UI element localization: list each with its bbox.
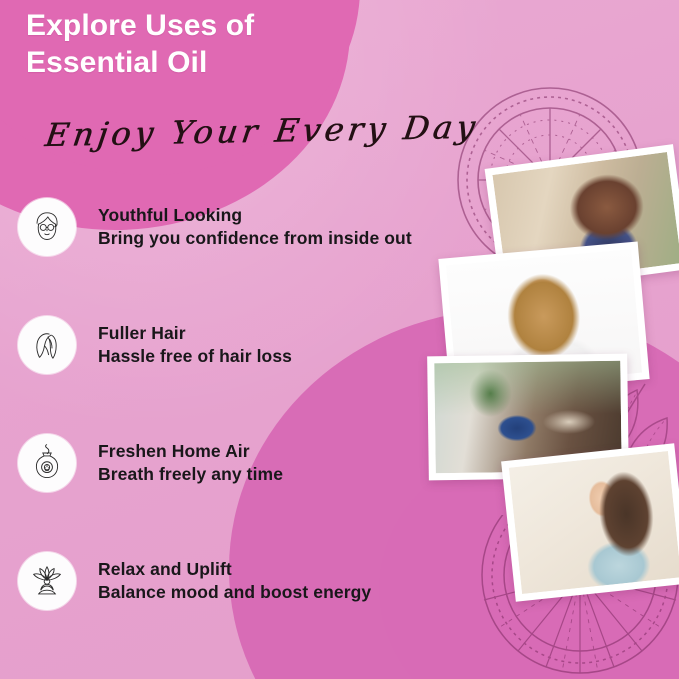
poster-canvas: Explore Uses of Essential Oil Enjoy Your… (0, 0, 679, 679)
feature-list: Youthful Looking Bring you confidence fr… (14, 168, 484, 640)
feature-text-block: Relax and Uplift Balance mood and boost … (98, 558, 371, 604)
woman-spraying-perfume-photo (501, 443, 679, 601)
feature-text-block: Fuller Hair Hassle free of hair loss (98, 322, 292, 368)
aroma-diffuser-icon (18, 434, 76, 492)
feature-item-fuller-hair: Fuller Hair Hassle free of hair loss (14, 286, 484, 404)
feature-subtitle: Breath freely any time (98, 463, 283, 486)
feature-subtitle: Balance mood and boost energy (98, 581, 371, 604)
title-line-1: Explore Uses of (26, 8, 386, 45)
feature-text-block: Freshen Home Air Breath freely any time (98, 440, 283, 486)
lotus-meditation-icon (18, 552, 76, 610)
face-mask-icon (18, 198, 76, 256)
feature-subtitle: Hassle free of hair loss (98, 345, 292, 368)
title-line-2: Essential Oil (26, 45, 386, 82)
long-hair-icon (18, 316, 76, 374)
page-title: Explore Uses of Essential Oil (26, 8, 386, 81)
feature-title: Youthful Looking (98, 204, 412, 227)
feature-subtitle: Bring you confidence from inside out (98, 227, 412, 250)
feature-item-youthful-looking: Youthful Looking Bring you confidence fr… (14, 168, 484, 286)
feature-item-relax-and-uplift: Relax and Uplift Balance mood and boost … (14, 522, 484, 640)
photo-image (509, 451, 679, 594)
feature-text-block: Youthful Looking Bring you confidence fr… (98, 204, 412, 250)
feature-title: Fuller Hair (98, 322, 292, 345)
feature-title: Relax and Uplift (98, 558, 371, 581)
feature-title: Freshen Home Air (98, 440, 283, 463)
feature-item-freshen-home-air: Freshen Home Air Breath freely any time (14, 404, 484, 522)
